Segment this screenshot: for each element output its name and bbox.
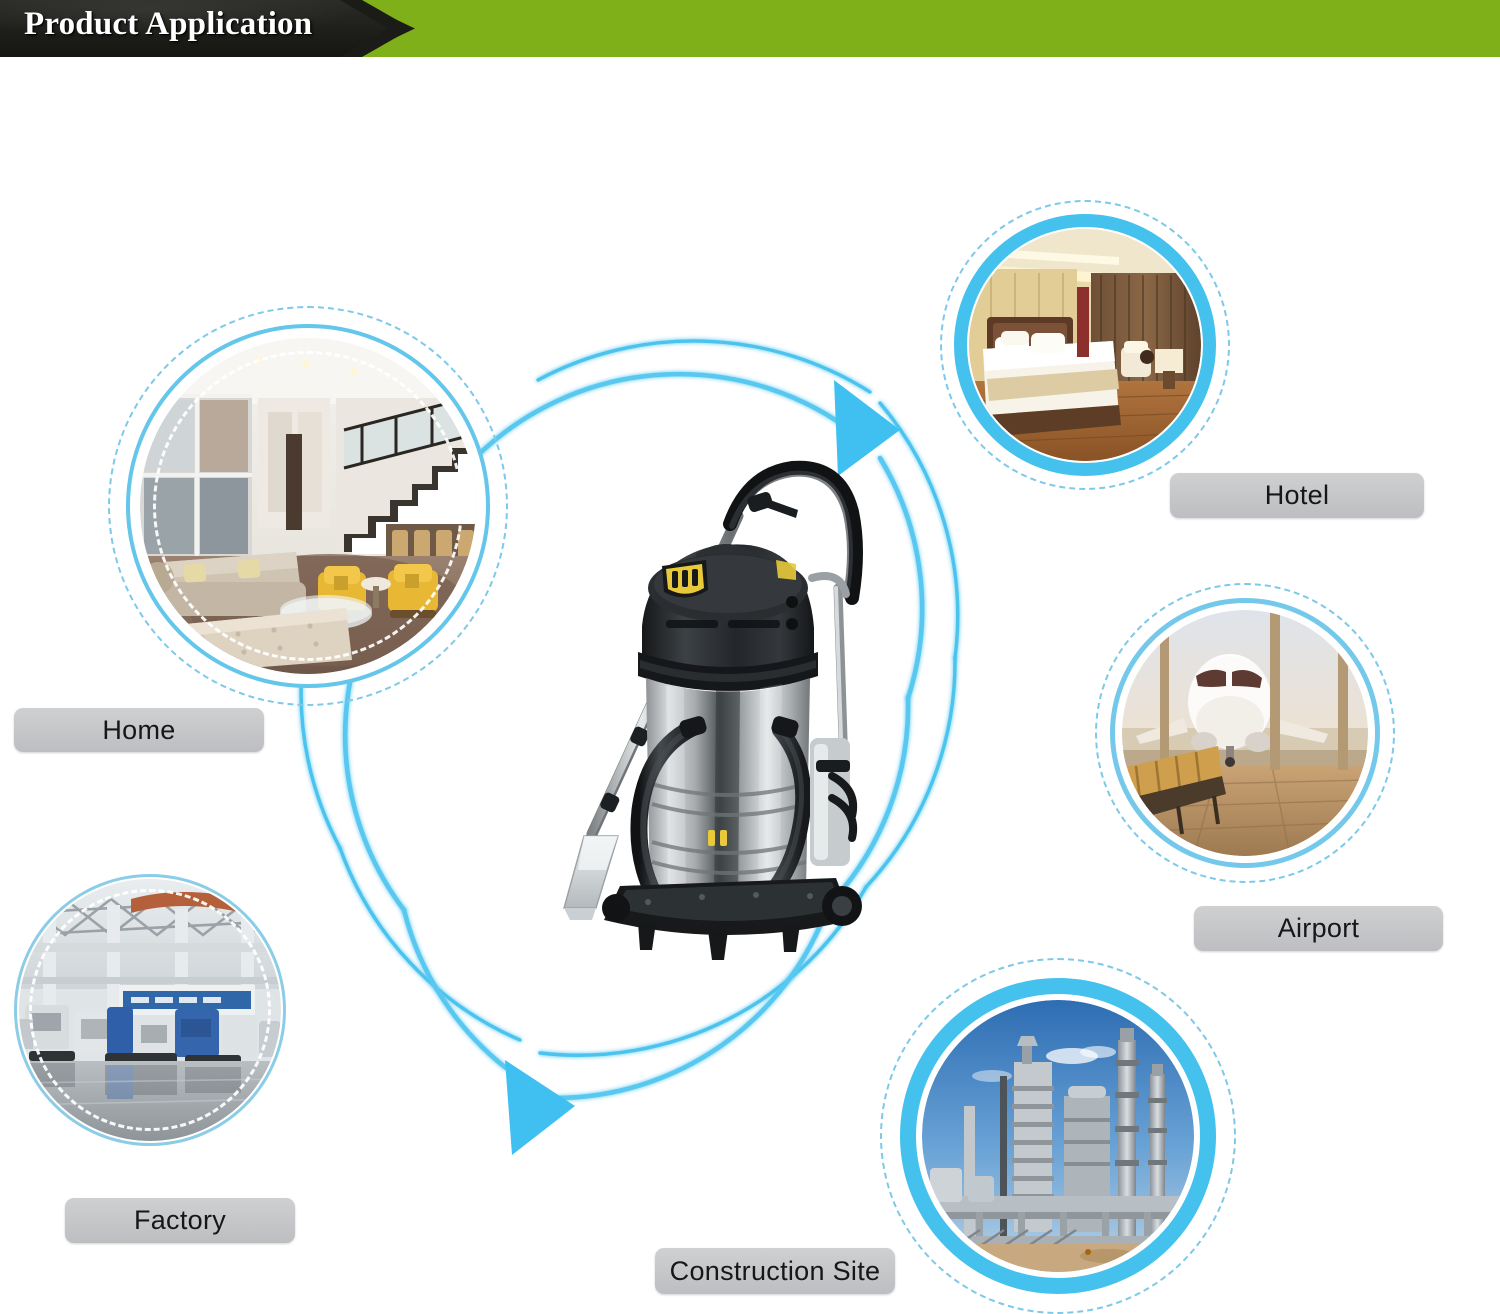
application-node-airport[interactable] — [1095, 583, 1395, 883]
application-node-construction-site[interactable] — [880, 958, 1236, 1314]
application-diagram: Home Hotel Airport Construction Site Fac… — [0, 58, 1500, 1305]
home-photo — [140, 338, 476, 674]
application-node-hotel[interactable] — [940, 200, 1230, 490]
arrow-head-bottom-left — [505, 1060, 575, 1155]
label-chip-hotel[interactable]: Hotel — [1170, 473, 1424, 518]
airport-photo — [1122, 610, 1368, 856]
label-chip-airport[interactable]: Airport — [1194, 906, 1443, 951]
header-banner: Product Application — [0, 0, 1500, 58]
hotel-photo — [969, 229, 1201, 461]
label-factory: Factory — [134, 1205, 226, 1236]
label-home: Home — [102, 715, 175, 746]
factory-photo — [19, 879, 281, 1141]
label-chip-factory[interactable]: Factory — [65, 1198, 295, 1243]
label-chip-construction-site[interactable]: Construction Site — [655, 1248, 895, 1294]
label-airport: Airport — [1278, 913, 1360, 944]
construction-site-photo — [922, 1000, 1194, 1272]
application-node-home[interactable] — [108, 306, 508, 706]
application-node-factory[interactable] — [10, 870, 290, 1150]
label-construction-site: Construction Site — [670, 1256, 881, 1287]
product-photo-vacuum-cleaner — [480, 438, 900, 1008]
label-chip-home[interactable]: Home — [14, 708, 264, 752]
label-hotel: Hotel — [1265, 480, 1330, 511]
page-title: Product Application — [24, 6, 312, 43]
